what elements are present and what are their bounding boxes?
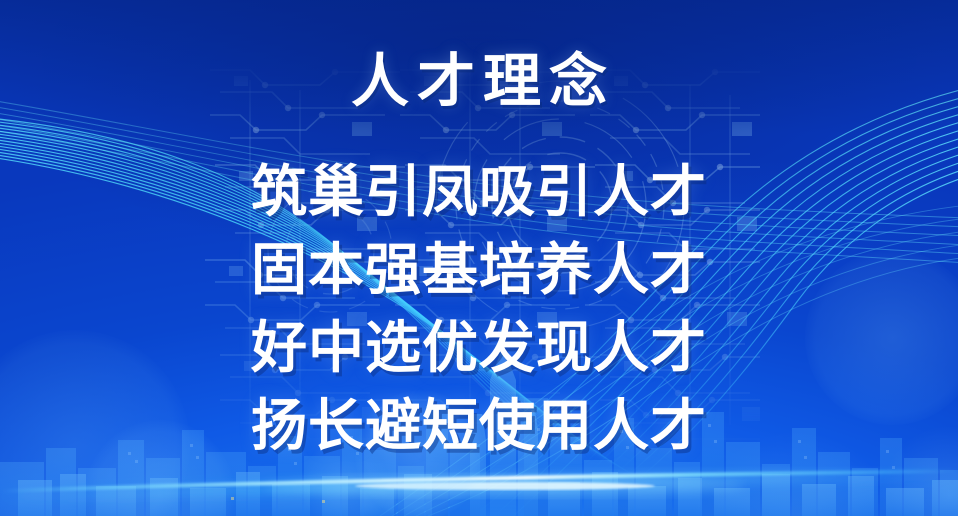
poster-canvas: 人才理念 筑巢引凤吸引人才 固本强基培养人才 好中选优发现人才 扬长避短使用人才 [0, 0, 958, 516]
slogan-line-4: 扬长避短使用人才 [0, 387, 958, 465]
slogan-list: 筑巢引凤吸引人才 固本强基培养人才 好中选优发现人才 扬长避短使用人才 [0, 153, 958, 465]
slogan-line-1: 筑巢引凤吸引人才 [0, 153, 958, 231]
page-title: 人才理念 [0, 51, 958, 113]
slogan-line-3: 好中选优发现人才 [0, 309, 958, 387]
poster-content: 人才理念 筑巢引凤吸引人才 固本强基培养人才 好中选优发现人才 扬长避短使用人才 [0, 0, 958, 516]
slogan-line-2: 固本强基培养人才 [0, 231, 958, 309]
